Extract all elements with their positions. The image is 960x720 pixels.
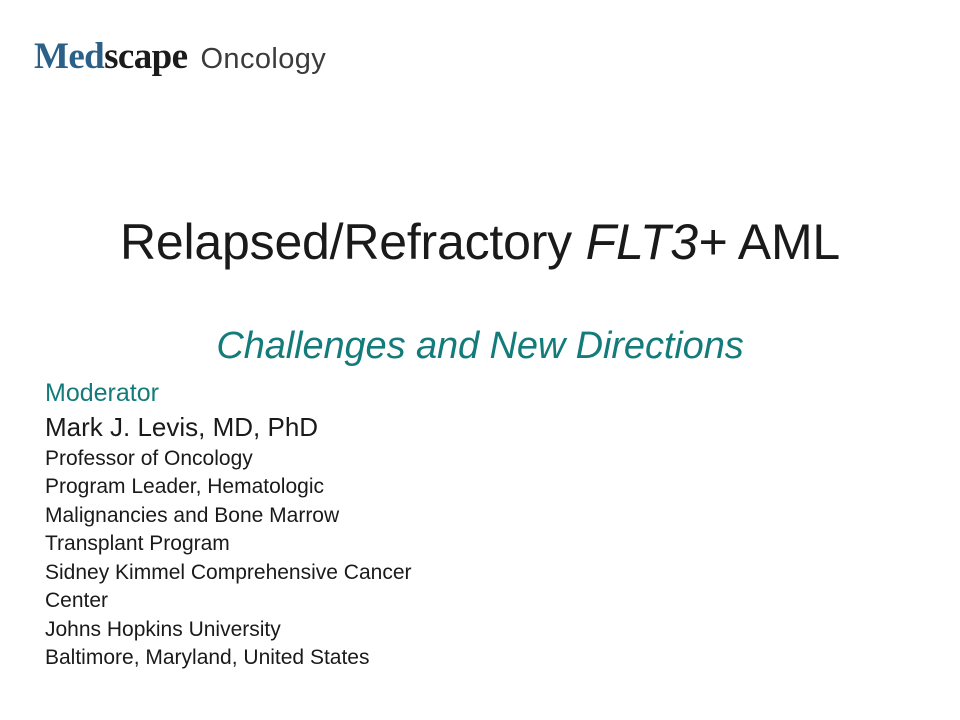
- affiliation-line: Baltimore, Maryland, United States: [45, 644, 605, 673]
- affiliation-line: Transplant Program: [45, 530, 605, 559]
- affiliation-line: Sidney Kimmel Comprehensive Cancer: [45, 559, 605, 588]
- title-part-before-gene: Relapsed/Refractory: [120, 214, 586, 270]
- moderator-block: Moderator Mark J. Levis, MD, PhD Profess…: [45, 378, 605, 673]
- affiliation-line: Center: [45, 587, 605, 616]
- affiliation-line: Malignancies and Bone Marrow: [45, 502, 605, 531]
- moderator-label: Moderator: [45, 378, 605, 409]
- title-part-after-gene: AML: [727, 214, 840, 270]
- slide-title: Relapsed/Refractory FLT3+ AML: [0, 214, 960, 270]
- medscape-logo: Medscape Oncology: [34, 38, 326, 75]
- wordmark-scape: scape: [104, 36, 187, 77]
- affiliation-line: Program Leader, Hematologic: [45, 473, 605, 502]
- medscape-wordmark: Medscape: [34, 38, 187, 75]
- wordmark-med: Med: [34, 36, 104, 77]
- affiliation-line: Professor of Oncology: [45, 445, 605, 474]
- specialty-label: Oncology: [200, 45, 326, 74]
- title-slide: Medscape Oncology Relapsed/Refractory FL…: [0, 0, 960, 720]
- affiliation-line: Johns Hopkins University: [45, 616, 605, 645]
- moderator-affiliation-list: Professor of Oncology Program Leader, He…: [45, 445, 605, 673]
- slide-subtitle: Challenges and New Directions: [0, 325, 960, 368]
- moderator-name: Mark J. Levis, MD, PhD: [45, 412, 605, 443]
- gene-name: FLT3+: [586, 214, 727, 270]
